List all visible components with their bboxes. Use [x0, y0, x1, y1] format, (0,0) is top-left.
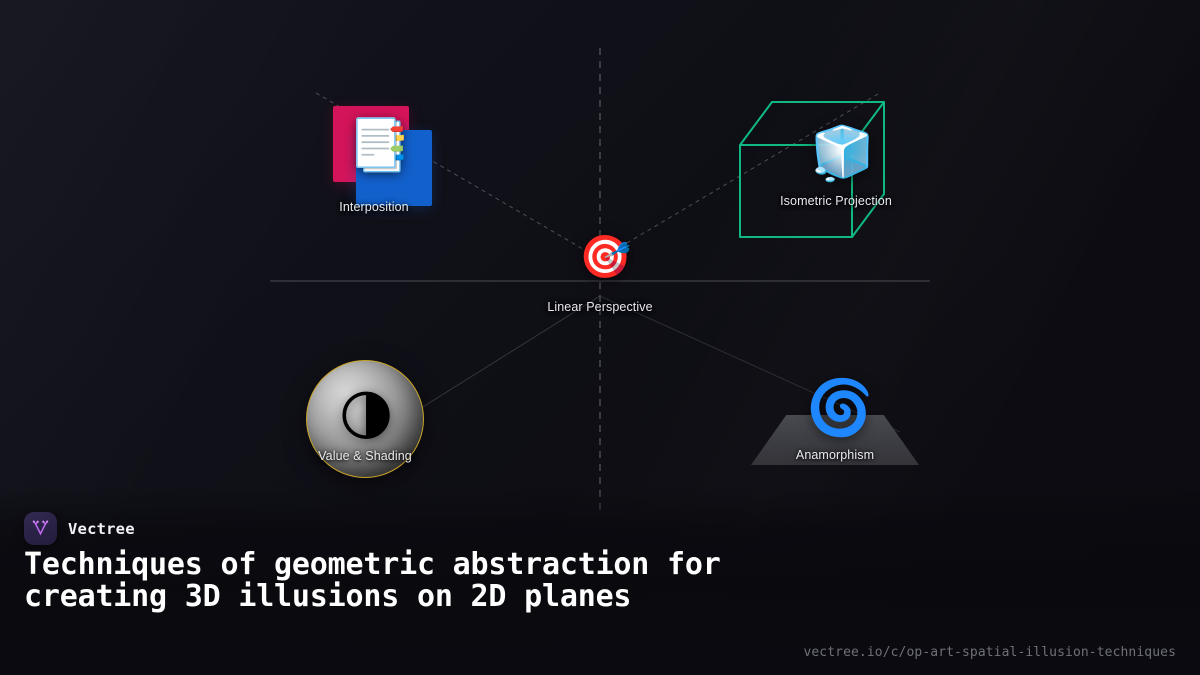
node-interposition[interactable]: 📑 Interposition — [300, 92, 448, 227]
source-url: vectree.io/c/op-art-spatial-illusion-tec… — [803, 645, 1176, 660]
headline-text: Techniques of geometric abstraction for … — [24, 549, 824, 613]
last-quarter-moon-icon: 🌗 — [338, 390, 394, 444]
node-label-isometric-projection: Isometric Projection — [726, 194, 946, 208]
illustration-canvas: 📑 Interposition 🧊 Isometric Projection 🌗… — [0, 0, 1200, 675]
node-label-interposition: Interposition — [300, 200, 448, 214]
ice-cube-icon: 🧊 — [810, 128, 875, 180]
node-linear-perspective[interactable]: 🎯 Linear Perspective — [560, 230, 640, 320]
node-label-linear-perspective: Linear Perspective — [500, 300, 700, 314]
node-label-anamorphism: Anamorphism — [735, 448, 935, 462]
cyclone-spiral-icon: 🌀 — [806, 381, 873, 435]
node-label-value-and-shading: Value & Shading — [284, 449, 446, 463]
node-isometric-projection[interactable]: 🧊 Isometric Projection — [726, 86, 946, 256]
bookmark-tabs-icon: 📑 — [348, 120, 410, 170]
brand-name: Vectree — [68, 520, 135, 538]
vectree-tree-logo-icon — [24, 512, 57, 545]
node-anamorphism[interactable]: 🌀 Anamorphism — [735, 378, 935, 488]
direct-hit-target-icon: 🎯 — [579, 236, 631, 278]
node-value-and-shading[interactable]: 🌗 Value & Shading — [300, 358, 430, 490]
brand-lockup: Vectree — [24, 512, 135, 545]
